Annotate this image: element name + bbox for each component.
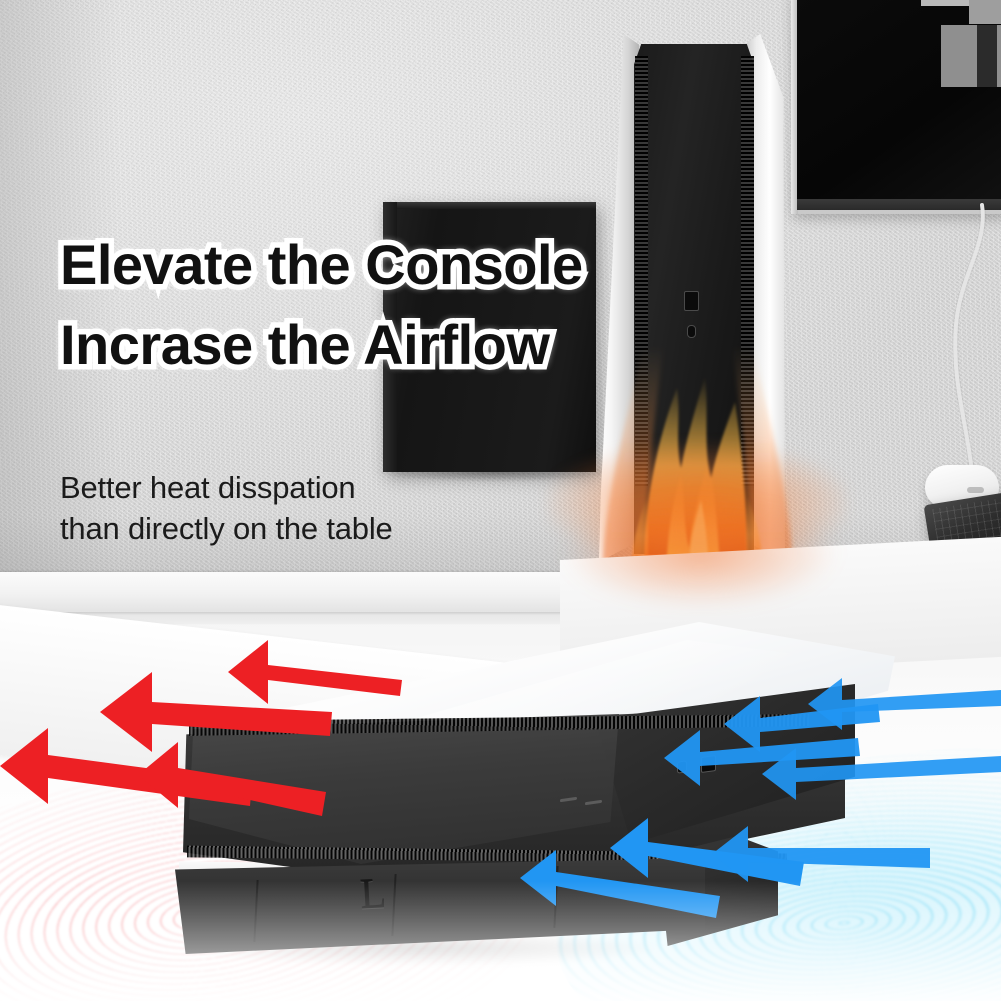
bottom-white-fade (0, 881, 1001, 1001)
page-title: Elevate the Console Incrase the Airflow (60, 225, 660, 384)
mouse-port (967, 487, 984, 493)
subhead-line-2: than directly on the table (60, 508, 580, 549)
monitor-tv (791, 0, 1001, 214)
bottom-scene: L (0, 600, 1001, 1001)
ps5-horizontal-usb-a-port (701, 755, 716, 773)
subhead-line-1: Better heat disspation (60, 467, 580, 508)
headline-line-1: Elevate the Console (60, 225, 660, 305)
monitor-reflection-block-a (921, 0, 969, 6)
monitor-reflection-block-d (977, 25, 997, 87)
product-marketing-image: Elevate the Console Incrase the Airflow … (0, 0, 1001, 1001)
flame-desk-reflection (560, 498, 840, 608)
white-cable (930, 205, 992, 505)
book-top-edge (383, 202, 596, 209)
headline-line-2: Incrase the Airflow (60, 305, 660, 385)
ps5-vertical-usb-c-port (687, 325, 696, 338)
monitor-reflection-block-b (969, 0, 1001, 24)
ps5-vertical-vent-right (741, 56, 754, 486)
ps5-horizontal-usb-c-port (677, 760, 687, 773)
subtitle: Better heat disspation than directly on … (60, 467, 580, 549)
ps5-vertical-usb-a-port (684, 291, 699, 311)
